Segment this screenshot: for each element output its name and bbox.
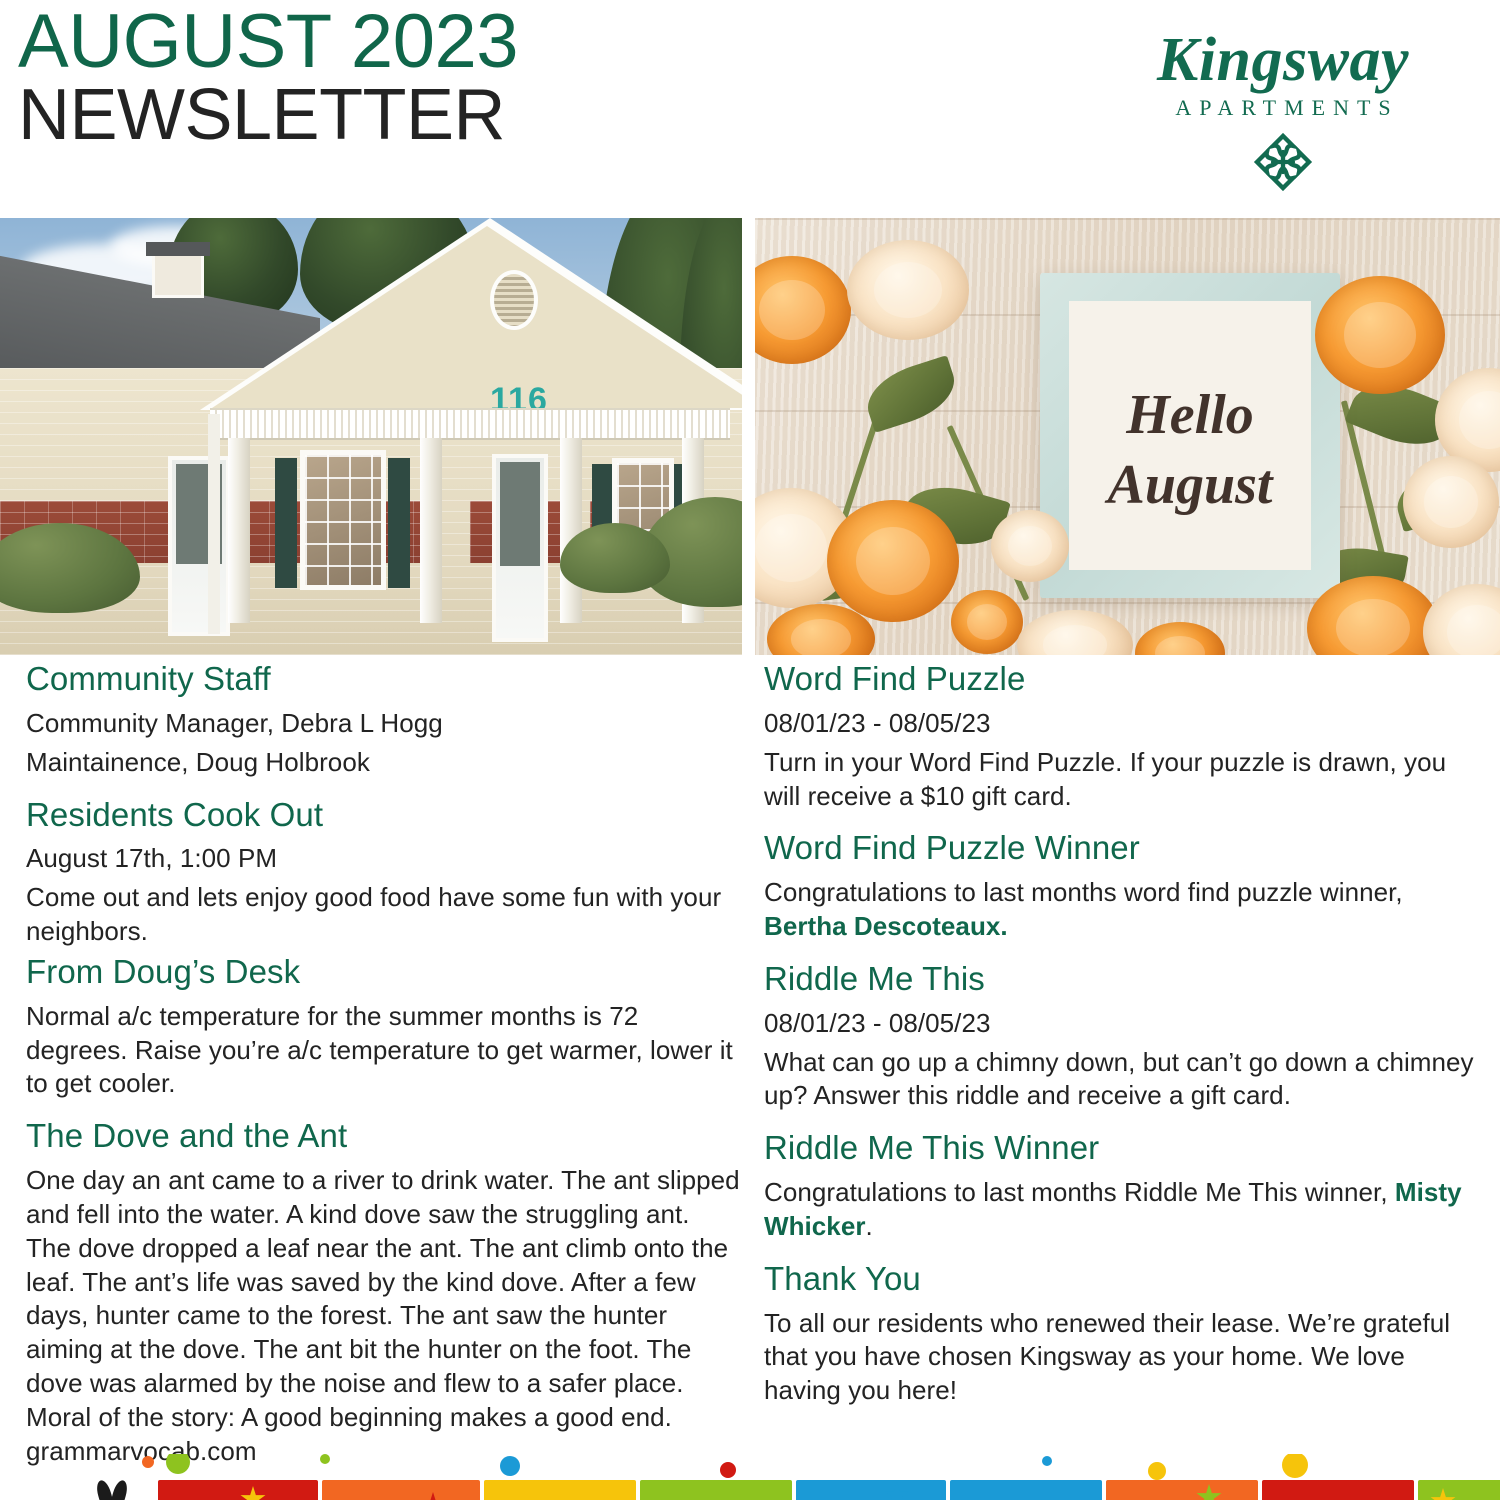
riddle-winner-suffix: . <box>866 1211 873 1241</box>
section-title-riddle-me-this: Riddle Me This <box>764 960 1476 999</box>
sign-text-hello: Hello <box>1069 383 1311 447</box>
kingsway-logo: Kingsway APARTMENTS <box>1138 28 1428 193</box>
banner-bar <box>158 1480 318 1500</box>
banner-bar <box>796 1480 946 1500</box>
section-title-thank-you: Thank You <box>764 1260 1476 1299</box>
word-find-dates: 08/01/23 - 08/05/23 <box>764 707 1476 741</box>
door-glass <box>500 462 540 566</box>
rose-flower <box>847 240 969 340</box>
maintenance-line: Maintainence, Doug Holbrook <box>26 746 741 780</box>
banner-bar <box>1106 1480 1258 1500</box>
banner-bar <box>1262 1480 1414 1500</box>
banner-bar <box>640 1480 792 1500</box>
thank-you-body: To all our residents who renewed their l… <box>764 1307 1476 1408</box>
riddle-winner-prefix: Congratulations to last months Riddle Me… <box>764 1177 1395 1207</box>
dove-and-ant-story: One day an ant came to a river to drink … <box>26 1164 741 1468</box>
rose-flower <box>1315 276 1445 394</box>
confetti-dot <box>1042 1456 1052 1466</box>
window-panes <box>305 455 381 585</box>
word-find-winner-prefix: Congratulations to last months word find… <box>764 877 1403 907</box>
confetti-dot <box>1148 1462 1166 1480</box>
section-title-from-dougs-desk: From Doug’s Desk <box>26 953 741 992</box>
porch-column <box>560 438 582 623</box>
section-title-riddle-winner: Riddle Me This Winner <box>764 1129 1476 1168</box>
porch-beam <box>210 408 730 440</box>
riddle-body: What can go up a chimny down, but can’t … <box>764 1046 1476 1114</box>
porch-column <box>420 438 442 623</box>
rose-flower <box>1403 456 1499 548</box>
dougs-desk-body: Normal a/c temperature for the summer mo… <box>26 1000 741 1101</box>
newsletter-header: AUGUST 2023 NEWSLETTER Kingsway APARTMEN… <box>0 0 1500 215</box>
cupola-shape <box>152 252 204 298</box>
rose-bud <box>991 510 1069 582</box>
banner-bar <box>322 1480 480 1500</box>
quatrefoil-emblem-icon <box>1138 131 1428 193</box>
cook-out-datetime: August 17th, 1:00 PM <box>26 842 741 876</box>
confetti-dot <box>1282 1454 1308 1478</box>
logo-subtitle: APARTMENTS <box>1138 95 1428 121</box>
bunny-ears-icon <box>98 1478 132 1500</box>
right-column: Word Find Puzzle 08/01/23 - 08/05/23 Tur… <box>764 660 1476 1408</box>
word-find-winner-name: Bertha Descoteaux. <box>764 911 1008 941</box>
logo-wordmark: Kingsway <box>1138 28 1428 93</box>
section-title-word-find-winner: Word Find Puzzle Winner <box>764 829 1476 868</box>
clubhouse-photo: 116 <box>0 218 742 655</box>
sign-text-august: August <box>1069 453 1311 517</box>
entry-door <box>492 454 548 642</box>
rose-bud <box>951 590 1023 654</box>
confetti-dot <box>142 1456 154 1468</box>
window-shutter <box>388 458 410 588</box>
masthead: AUGUST 2023 NEWSLETTER <box>18 6 518 151</box>
front-window <box>300 450 386 590</box>
riddle-winner-body: Congratulations to last months Riddle Me… <box>764 1176 1476 1244</box>
riddle-dates: 08/01/23 - 08/05/23 <box>764 1007 1476 1041</box>
word-find-winner-body: Congratulations to last months word find… <box>764 876 1476 944</box>
newsletter-page: AUGUST 2023 NEWSLETTER Kingsway APARTMEN… <box>0 0 1500 1500</box>
section-title-dove-and-ant: The Dove and the Ant <box>26 1117 741 1156</box>
gable-shape <box>212 226 742 408</box>
picture-frame: Hello August <box>1040 273 1340 598</box>
left-column: Community Staff Community Manager, Debra… <box>26 660 741 1468</box>
photo-row: 116 <box>0 218 1500 655</box>
community-manager-line: Community Manager, Debra L Hogg <box>26 707 741 741</box>
page-title-newsletter: NEWSLETTER <box>18 79 518 151</box>
section-title-residents-cook-out: Residents Cook Out <box>26 796 741 835</box>
banner-bar <box>950 1480 1102 1500</box>
word-find-body: Turn in your Word Find Puzzle. If your p… <box>764 746 1476 814</box>
confetti-dot <box>500 1456 520 1476</box>
cook-out-description: Come out and lets enjoy good food have s… <box>26 881 741 949</box>
beam-texture <box>210 410 730 438</box>
banner-bar <box>484 1480 636 1500</box>
porch-column <box>228 438 250 623</box>
confetti-dot <box>720 1462 736 1478</box>
footer-party-banner-graphic <box>0 1454 1500 1500</box>
frame-mat: Hello August <box>1069 301 1311 570</box>
page-title-month-year: AUGUST 2023 <box>18 6 518 79</box>
window-shutter <box>275 458 297 588</box>
rose-flower <box>827 500 959 622</box>
side-door <box>168 456 230 636</box>
hello-august-photo: Hello August <box>755 218 1500 655</box>
confetti-dot <box>320 1454 330 1464</box>
section-title-community-staff: Community Staff <box>26 660 741 699</box>
downspout <box>208 414 220 634</box>
confetti-dot <box>166 1454 190 1474</box>
banner-bar <box>1418 1480 1500 1500</box>
gable-vent-icon <box>490 270 538 330</box>
section-title-word-find-puzzle: Word Find Puzzle <box>764 660 1476 699</box>
